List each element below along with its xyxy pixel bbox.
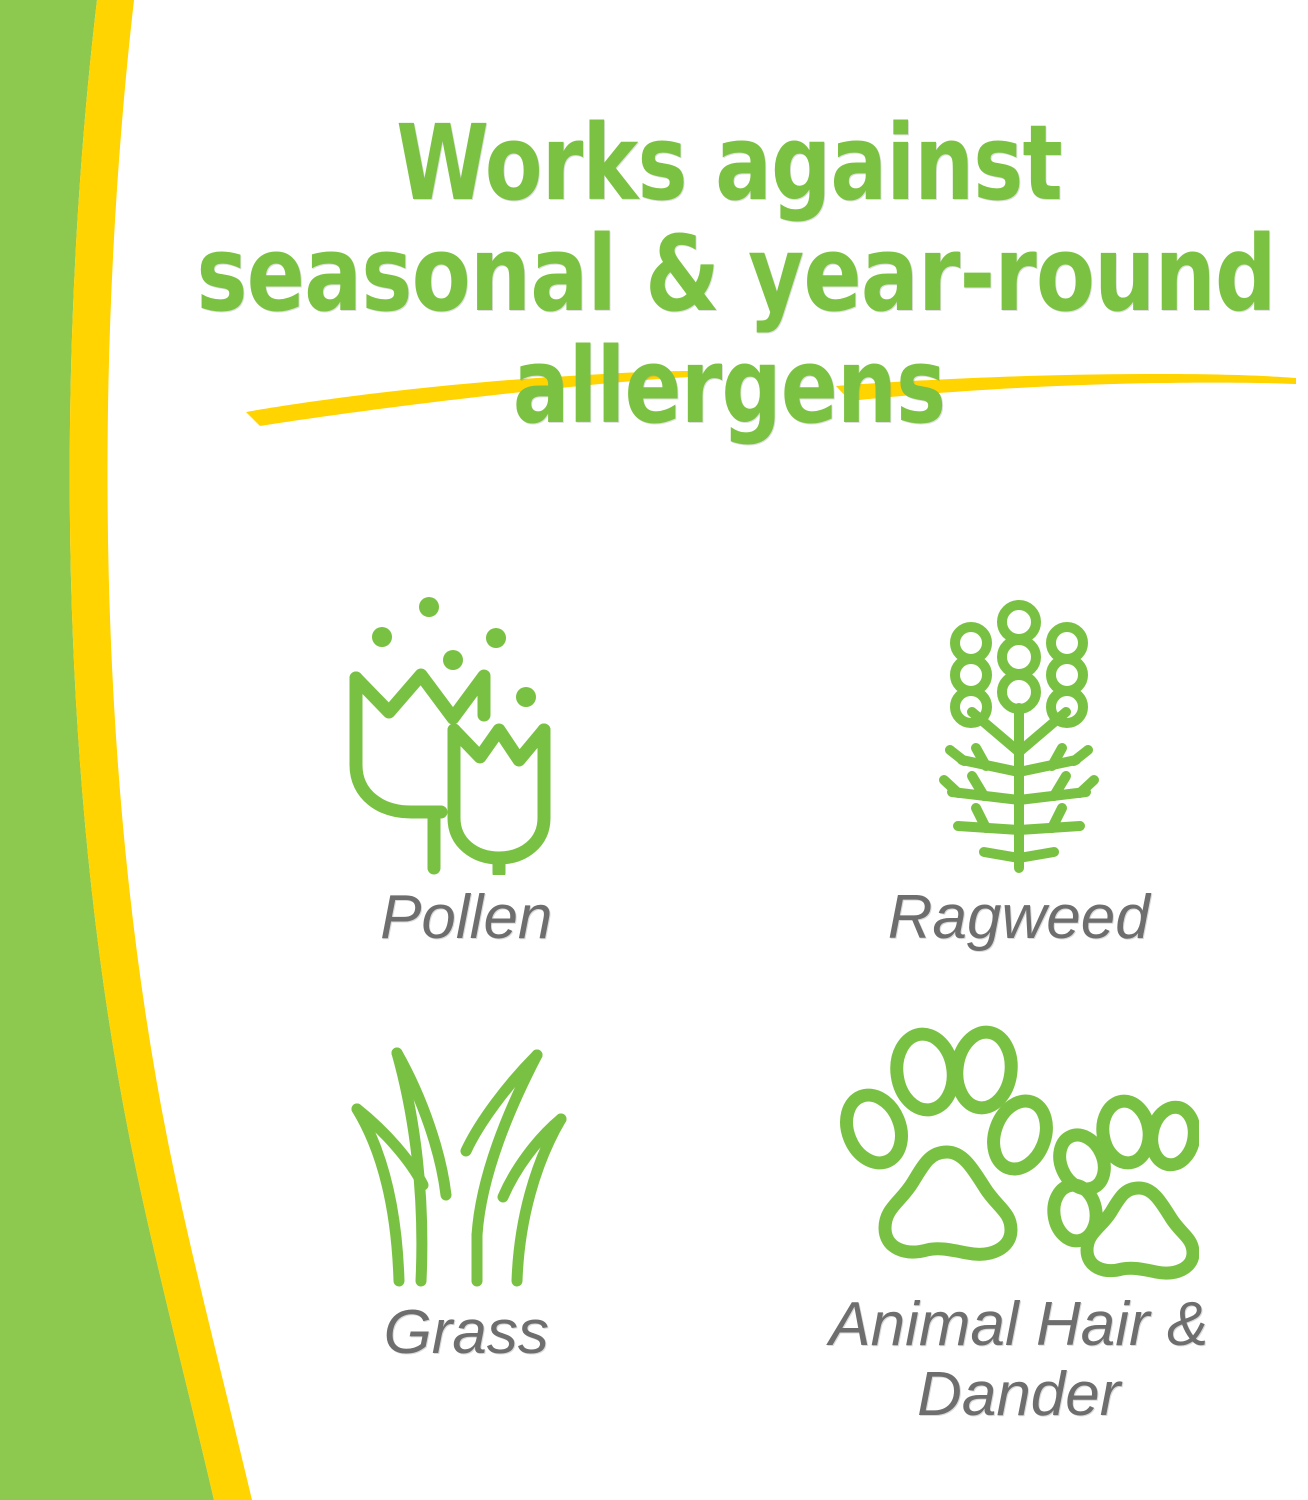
pollen-flowers-icon <box>341 575 591 875</box>
headline: Works against seasonal & year-round alle… <box>150 108 1308 442</box>
allergen-item-grass: Grass <box>190 990 743 1430</box>
swoosh-right <box>836 374 1296 401</box>
allergen-item-ragweed: Ragweed <box>743 575 1296 990</box>
allergen-label-animal-hair-dander: Animal Hair & Dander <box>759 1290 1279 1430</box>
allergen-label-pollen: Pollen <box>380 883 552 953</box>
headline-line-1: Works against <box>208 108 1250 218</box>
allergen-item-animal-hair-dander: Animal Hair & Dander <box>743 990 1296 1430</box>
headline-line-2: seasonal & year-round <box>196 218 1261 330</box>
ragweed-plant-icon <box>914 575 1124 875</box>
promo-graphic: Works against seasonal & year-round alle… <box>0 0 1308 1500</box>
paw-prints-icon <box>839 990 1199 1282</box>
allergen-label-ragweed: Ragweed <box>888 883 1150 953</box>
yellow-swoosh-underline <box>150 352 1308 432</box>
allergen-item-pollen: Pollen <box>190 575 743 990</box>
allergen-grid: Pollen <box>190 575 1295 1460</box>
headline-line-3: allergens <box>208 330 1250 442</box>
swoosh-left <box>246 371 690 426</box>
allergen-label-grass: Grass <box>384 1298 549 1368</box>
grass-blades-icon <box>349 990 584 1290</box>
